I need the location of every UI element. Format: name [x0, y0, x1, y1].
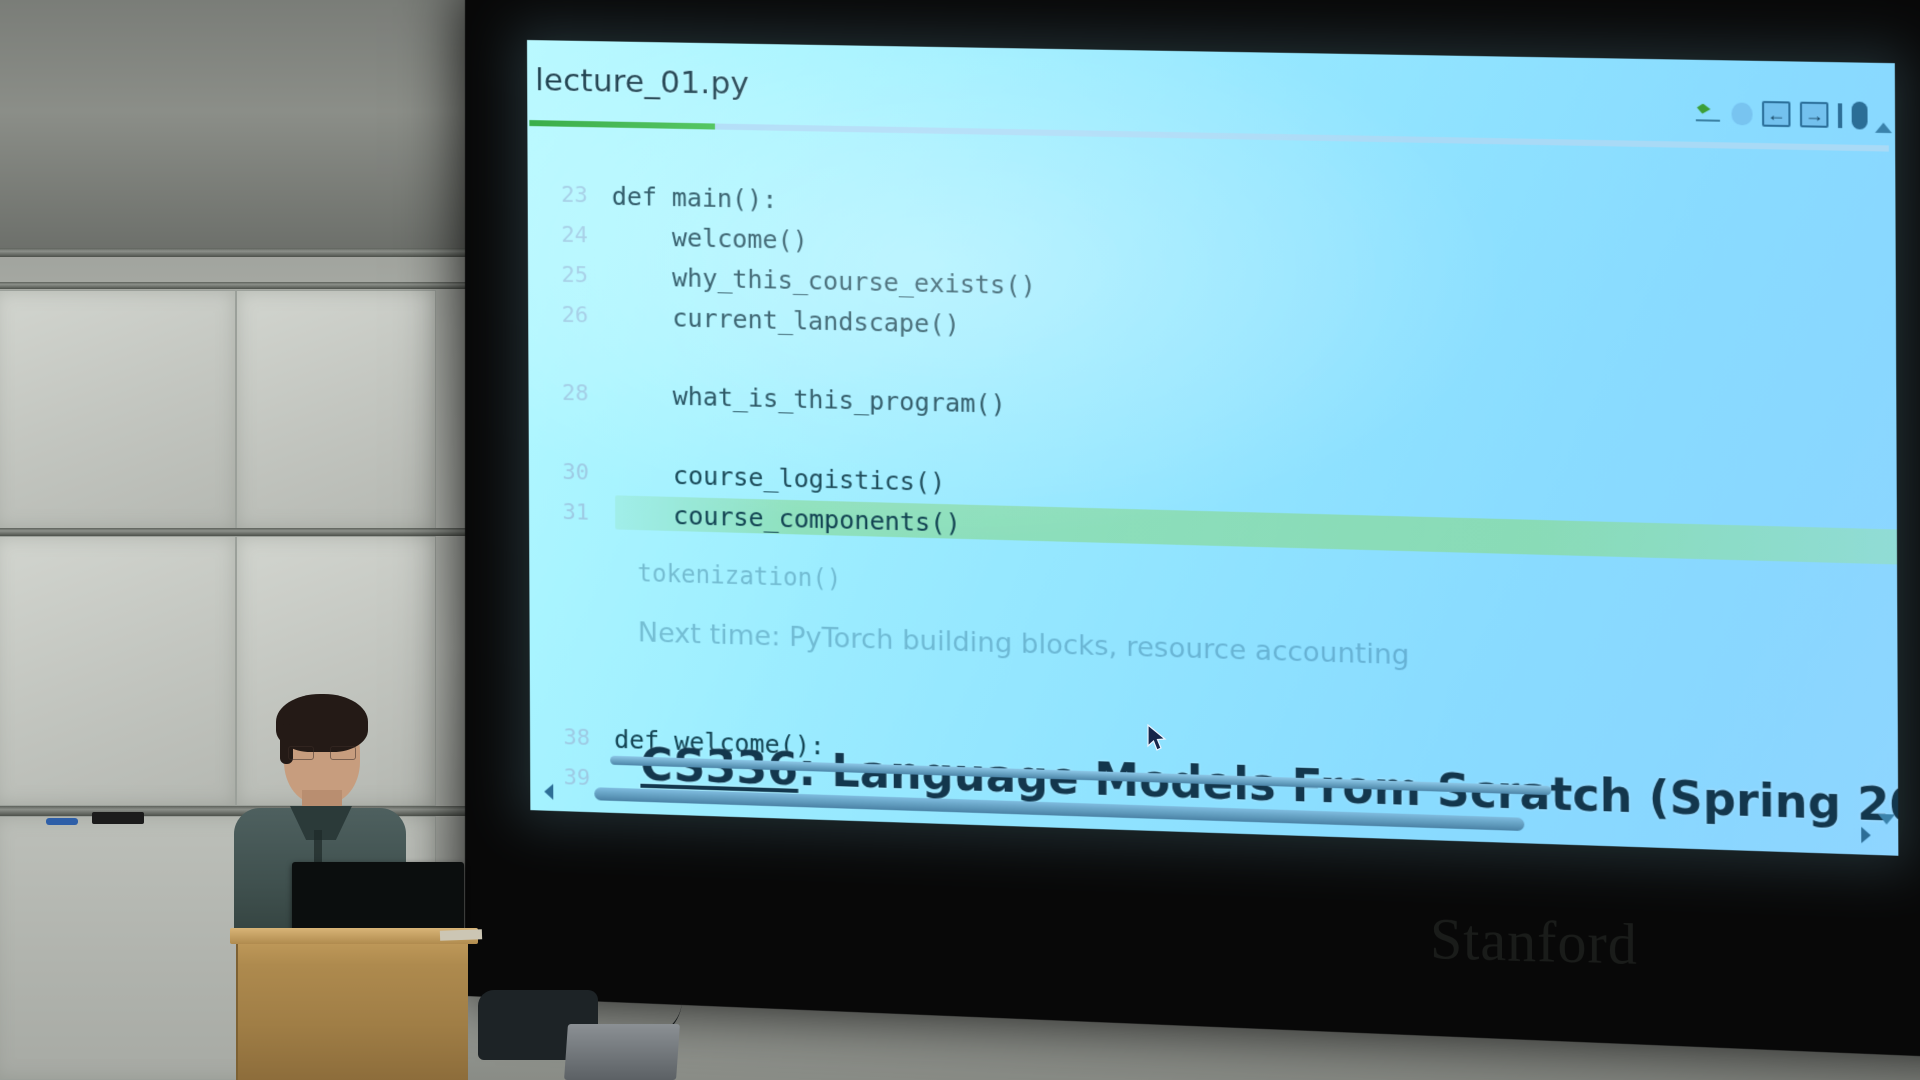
scroll-down-arrow-icon[interactable] [1878, 814, 1895, 825]
scroll-right-arrow-icon[interactable] [1861, 827, 1871, 844]
code-text: def main(): [612, 181, 778, 213]
code-text: course_logistics() [613, 459, 945, 497]
line-number: 23 [528, 182, 612, 209]
line-number: 24 [528, 222, 612, 249]
lecture-recording-frame: Stanford lecture_01.py ← → [0, 0, 1920, 1080]
code-text: welcome() [612, 221, 808, 254]
podium-paper [440, 929, 482, 940]
desk-items [478, 980, 668, 1080]
whiteboard-eraser [92, 812, 144, 824]
code-text: why_this_course_exists() [612, 261, 1036, 299]
ide-window: lecture_01.py ← → 23 def main(): [527, 40, 1898, 856]
caret-bar-icon [1838, 103, 1842, 128]
line-number: 38 [530, 724, 614, 752]
podium [236, 940, 468, 1080]
line-number: 30 [529, 459, 613, 486]
wall-rail-lower [0, 528, 470, 536]
ceiling [0, 0, 470, 248]
whiteboard-panel-bottom-left [0, 536, 236, 806]
whiteboard-marker-blue [46, 818, 78, 825]
mouse-cursor [1147, 724, 1169, 754]
code-line[interactable]: 28 what_is_this_program() [528, 372, 1896, 446]
presenter-glasses [288, 746, 356, 761]
faded-note-next-time: Next time: PyTorch building blocks, reso… [638, 617, 1410, 671]
presenter-hair [276, 694, 368, 752]
wall-rail-upper [0, 248, 470, 257]
nav-back-icon[interactable]: ← [1762, 101, 1791, 127]
wall-rail-mid [0, 282, 470, 289]
file-name-label: lecture_01.py [535, 62, 749, 102]
line-number: 26 [528, 302, 612, 329]
scroll-left-arrow-icon[interactable] [544, 784, 553, 800]
blob-icon[interactable] [1731, 102, 1752, 125]
code-text: course_components() [613, 499, 961, 538]
vertical-scrollbar[interactable] [1872, 122, 1898, 824]
nav-forward-icon[interactable]: → [1800, 102, 1829, 128]
laptop [564, 1024, 680, 1080]
handle-icon[interactable] [1852, 102, 1868, 130]
faded-code-tokenization: tokenization() [637, 559, 841, 593]
pin-marker-icon[interactable] [1695, 101, 1722, 124]
code-text: what_is_this_program() [613, 380, 1006, 419]
scroll-up-arrow-icon[interactable] [1875, 123, 1892, 134]
projected-slide: lecture_01.py ← → 23 def main(): [527, 40, 1898, 856]
whiteboard-panel-top-right [236, 290, 436, 530]
code-editor-body[interactable]: 23 def main(): 24 welcome() 25 why_this_… [527, 144, 1898, 856]
titlebar-icon-group: ← → [1695, 99, 1868, 130]
code-text: current_landscape() [612, 301, 960, 338]
line-number: 31 [529, 499, 613, 526]
line-number: 28 [528, 380, 612, 407]
whiteboard-panel-top-left [0, 290, 236, 530]
line-number: 25 [528, 262, 612, 289]
